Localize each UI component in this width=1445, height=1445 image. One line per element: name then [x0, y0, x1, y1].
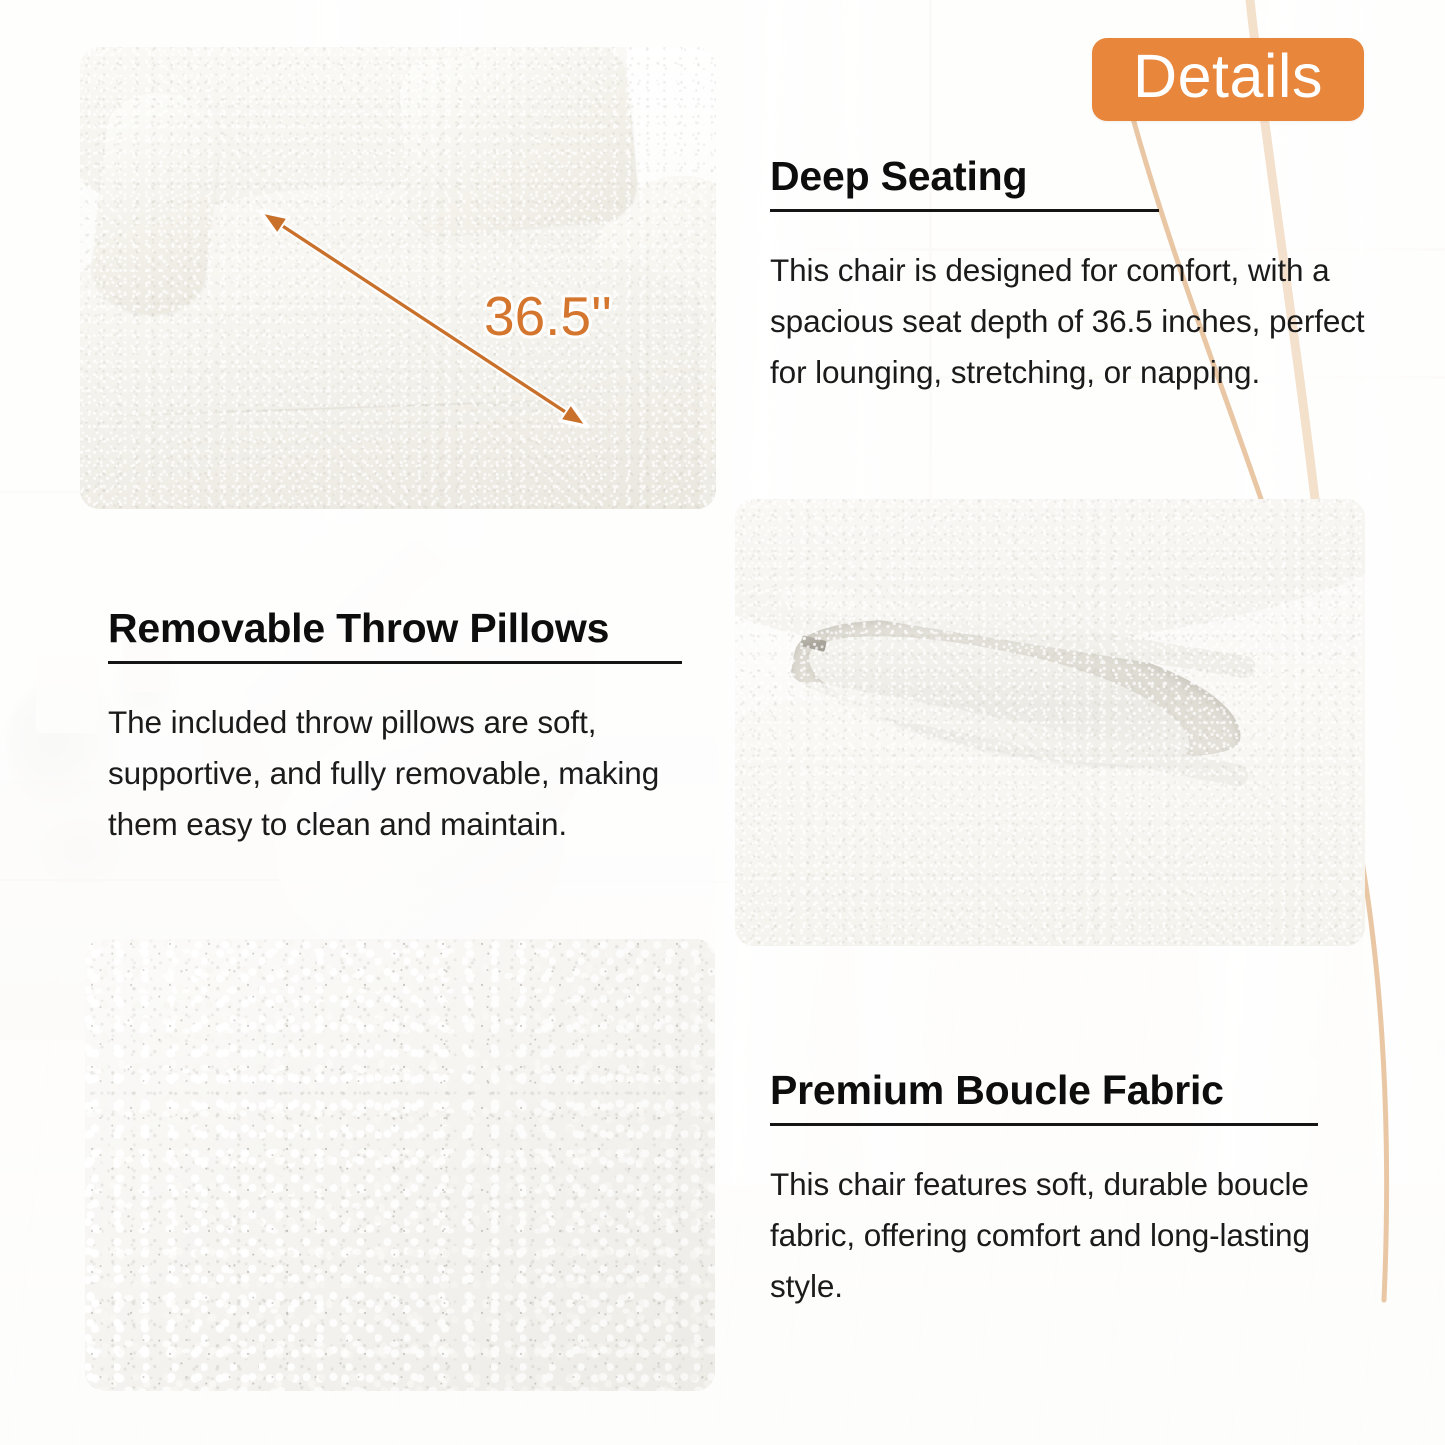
details-badge: Details — [1092, 38, 1364, 121]
photo-pillow-zipper — [735, 499, 1365, 946]
feature-heading: Premium Boucle Fabric — [770, 1068, 1370, 1112]
feature-body-text: This chair features soft, durable boucle… — [770, 1159, 1330, 1312]
photo-boucle-fabric-swatch — [85, 939, 715, 1391]
feature-body-text: This chair is designed for comfort, with… — [770, 245, 1370, 398]
feature-block-boucle-fabric: Premium Boucle Fabric This chair feature… — [770, 1068, 1370, 1312]
boucle-texture-overlay — [735, 499, 1365, 946]
swatch-shading — [85, 939, 715, 1391]
heading-underline — [770, 209, 1159, 212]
boucle-texture-overlay — [80, 47, 716, 509]
feature-heading: Deep Seating — [770, 154, 1370, 198]
feature-block-deep-seating: Deep Seating This chair is designed for … — [770, 154, 1370, 398]
feature-block-throw-pillows: Removable Throw Pillows The included thr… — [108, 606, 708, 850]
photo-chair-seat-depth: 36.5'' — [80, 47, 716, 509]
details-badge-label: Details — [1133, 46, 1323, 113]
feature-body-text: The included throw pillows are soft, sup… — [108, 697, 688, 850]
heading-underline — [108, 661, 682, 664]
dimension-label: 36.5'' — [484, 289, 612, 344]
feature-heading: Removable Throw Pillows — [108, 606, 708, 650]
heading-underline — [770, 1123, 1318, 1126]
